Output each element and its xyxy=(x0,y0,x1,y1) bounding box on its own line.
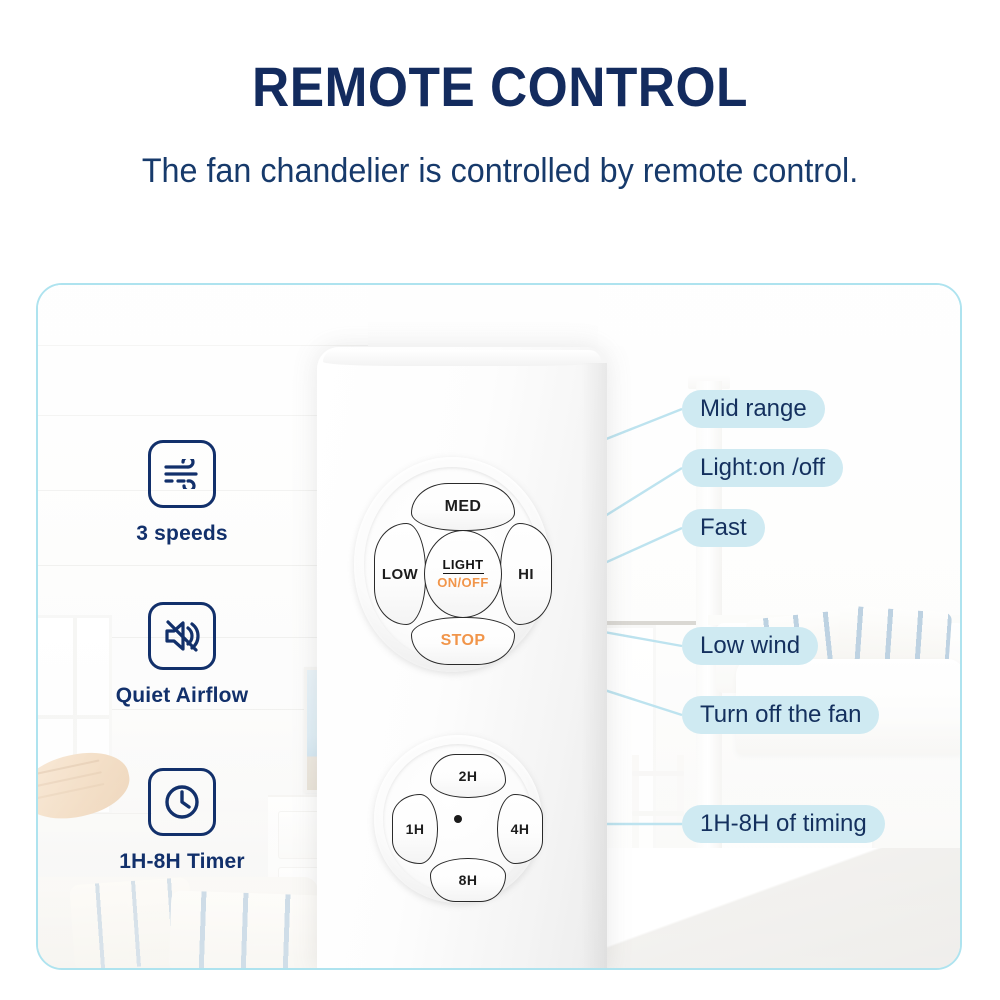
speaker-mute-icon xyxy=(148,602,216,670)
callout-turn-off[interactable]: Turn off the fan xyxy=(682,696,879,734)
med-button[interactable]: MED xyxy=(411,483,515,531)
timer-8h-button[interactable]: 8H xyxy=(430,858,506,902)
timer-pad: 2H 1H 4H 8H xyxy=(374,735,542,903)
feature-label: 1H-8H Timer xyxy=(82,850,282,874)
timer-1h-button[interactable]: 1H xyxy=(392,794,438,864)
feature-timer: 1H-8H Timer xyxy=(82,768,282,874)
callout-timing[interactable]: 1H-8H of timing xyxy=(682,805,885,843)
fan-pad-inner: MED LOW HI STOP LIGHT ON/OFF xyxy=(364,467,540,662)
floor xyxy=(598,848,962,968)
remote-top-bevel xyxy=(323,350,601,366)
feature-quiet-airflow: Quiet Airflow xyxy=(82,602,282,708)
feature-label: Quiet Airflow xyxy=(82,684,282,708)
remote-side-shadow xyxy=(581,363,607,970)
striped-pillow xyxy=(169,890,332,970)
callout-fast[interactable]: Fast xyxy=(682,509,765,547)
fan-speed-pad: MED LOW HI STOP LIGHT ON/OFF xyxy=(354,457,550,672)
hi-button[interactable]: HI xyxy=(500,523,552,625)
low-button[interactable]: LOW xyxy=(374,523,426,625)
light-label: LIGHT xyxy=(443,558,484,574)
callout-low-wind[interactable]: Low wind xyxy=(682,627,818,665)
page-subtitle: The fan chandelier is controlled by remo… xyxy=(25,152,975,191)
timer-pad-inner: 2H 1H 4H 8H xyxy=(383,744,533,894)
callout-light[interactable]: Light:on /off xyxy=(682,449,843,487)
light-on-off-button[interactable]: LIGHT ON/OFF xyxy=(424,530,502,618)
callout-mid-range[interactable]: Mid range xyxy=(682,390,825,428)
feature-label: 3 speeds xyxy=(82,522,282,546)
photo-panel: MED LOW HI STOP LIGHT ON/OFF 2H 1H 4H 8H xyxy=(36,283,962,970)
timer-2h-button[interactable]: 2H xyxy=(430,754,506,798)
on-off-label: ON/OFF xyxy=(437,576,489,590)
stop-button[interactable]: STOP xyxy=(411,617,515,665)
center-dot-icon xyxy=(454,815,462,823)
clock-icon xyxy=(148,768,216,836)
wind-icon xyxy=(148,440,216,508)
page-title: REMOTE CONTROL xyxy=(40,54,960,119)
product-infographic: REMOTE CONTROL The fan chandelier is con… xyxy=(0,0,1000,1000)
feature-3-speeds: 3 speeds xyxy=(82,440,282,546)
timer-4h-button[interactable]: 4H xyxy=(497,794,543,864)
